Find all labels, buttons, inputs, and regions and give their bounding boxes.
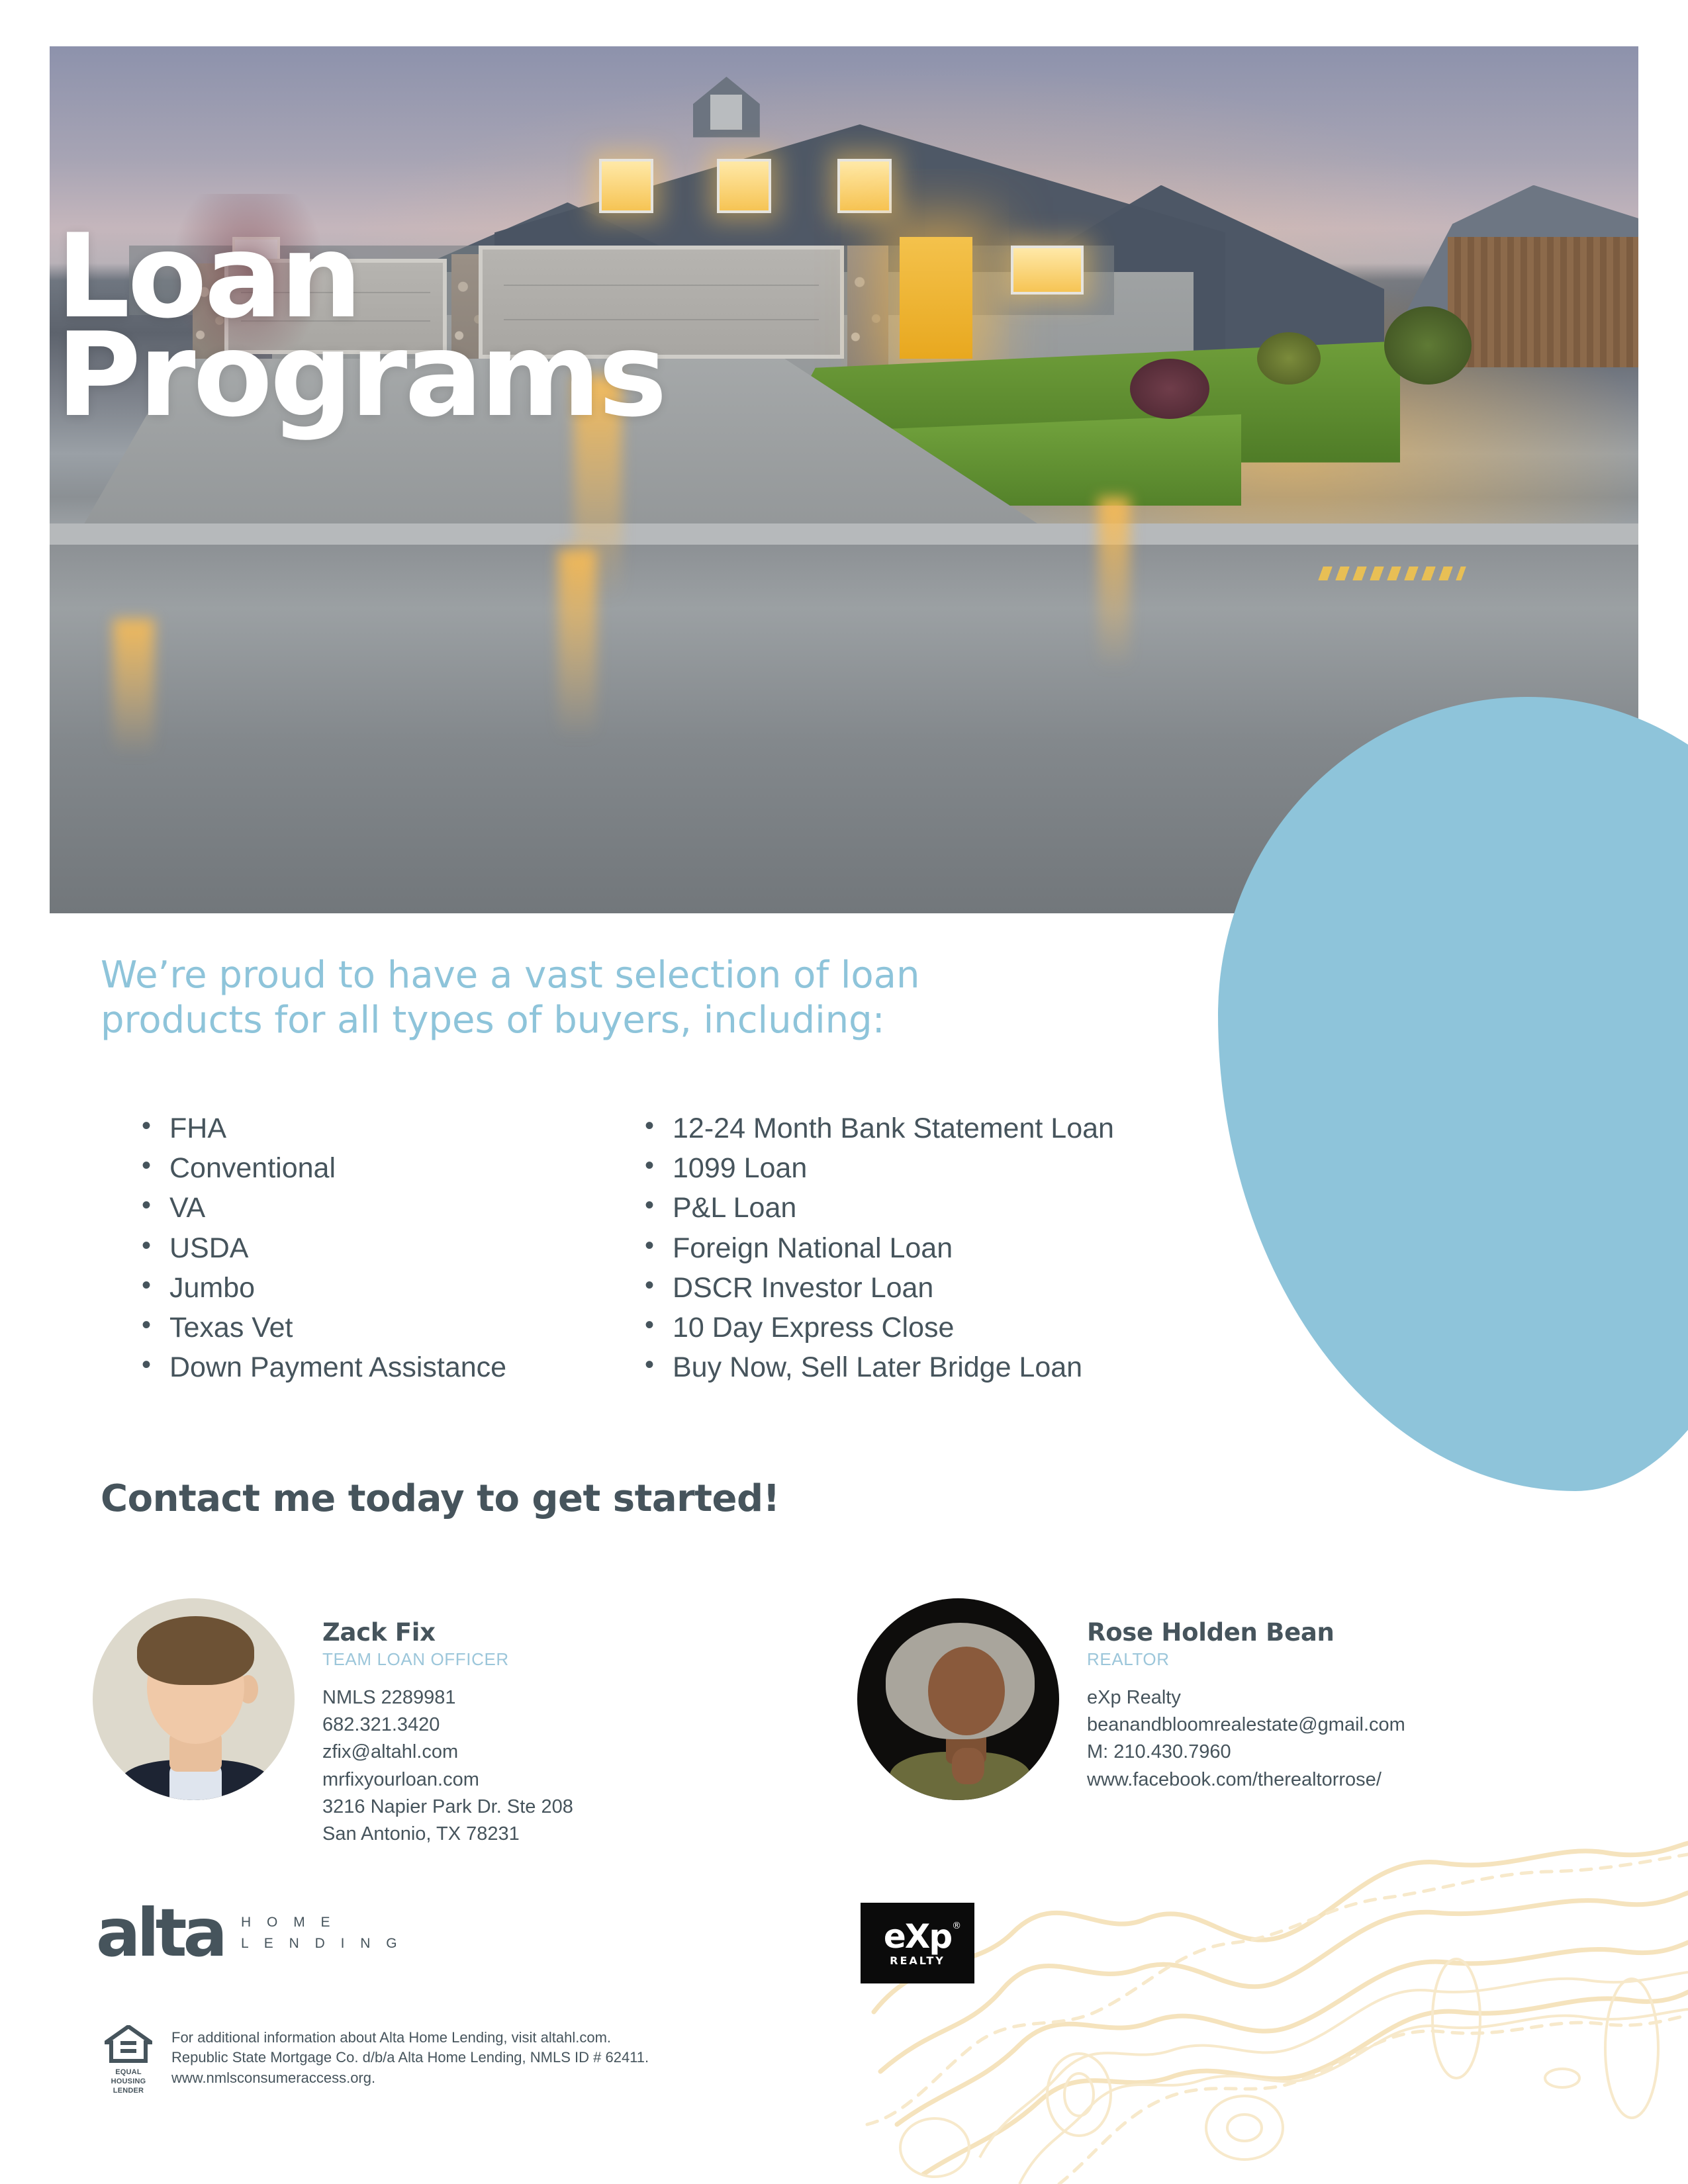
topographic-decoration [861, 1813, 1688, 2184]
shrub-1 [1130, 359, 1209, 420]
list-item: FHA [142, 1109, 604, 1148]
list-item: Buy Now, Sell Later Bridge Loan [645, 1347, 1107, 1387]
contact-details: NMLS 2289981 682.321.3420 zfix@altahl.co… [322, 1684, 573, 1848]
light-reflection-2 [558, 549, 596, 740]
avatar [93, 1598, 295, 1800]
house-icon [105, 2025, 152, 2064]
alta-home-lending-logo: alta H O M E L E N D I N G [96, 1906, 403, 1960]
list-item: P&L Loan [645, 1188, 1107, 1228]
programs-column-left: FHA Conventional VA USDA Jumbo Texas Vet… [101, 1109, 604, 1387]
list-item: DSCR Investor Loan [645, 1268, 1107, 1308]
list-item: Conventional [142, 1148, 604, 1188]
wood-fence [1448, 237, 1638, 367]
avatar [857, 1598, 1059, 1800]
contact-details: eXp Realty beanandbloomrealestate@gmail.… [1087, 1684, 1405, 1794]
list-item: Texas Vet [142, 1308, 604, 1347]
light-reflection-4 [113, 619, 154, 758]
list-item: Jumbo [142, 1268, 604, 1308]
contact-info: Zack Fix TEAM LOAN OFFICER NMLS 2289981 … [322, 1598, 573, 1848]
alta-wordmark: alta [96, 1906, 224, 1960]
programs-list-right: 12-24 Month Bank Statement Loan 1099 Loa… [604, 1109, 1107, 1387]
list-item: VA [142, 1188, 604, 1228]
shrub-3 [1384, 306, 1472, 385]
contact-card-loan-officer: Zack Fix TEAM LOAN OFFICER NMLS 2289981 … [93, 1598, 573, 1848]
footer: EQUAL HOUSING LENDER For additional info… [103, 2025, 649, 2095]
window-lit-4 [1011, 246, 1084, 294]
list-item: 1099 Loan [645, 1148, 1107, 1188]
list-item: USDA [142, 1228, 604, 1268]
list-item: Down Payment Assistance [142, 1347, 604, 1387]
shrub-2 [1257, 332, 1321, 385]
window-lit-2 [717, 159, 771, 212]
exp-realty-logo: eXp® REALTY [861, 1903, 974, 1983]
dormer-window [710, 95, 742, 129]
light-reflection-3 [1098, 497, 1130, 670]
programs-column-right: 12-24 Month Bank Statement Loan 1099 Loa… [604, 1109, 1107, 1387]
list-item: 12-24 Month Bank Statement Loan [645, 1109, 1107, 1148]
intro-text: We’re proud to have a vast selection of … [101, 953, 1133, 1044]
contact-role: REALTOR [1087, 1649, 1405, 1670]
window-lit-1 [599, 159, 653, 212]
list-item: 10 Day Express Close [645, 1308, 1107, 1347]
stone-column-3 [847, 246, 888, 367]
accent-blob-shape [1218, 697, 1688, 1491]
contact-name: Rose Holden Bean [1087, 1618, 1405, 1647]
curb-marking [1318, 567, 1466, 580]
equal-housing-label: EQUAL HOUSING LENDER [103, 2068, 154, 2095]
alta-tagline: H O M E L E N D I N G [241, 1912, 403, 1960]
contact-info: Rose Holden Bean REALTOR eXp Realty bean… [1087, 1598, 1405, 1794]
front-door [900, 237, 972, 358]
contact-name: Zack Fix [322, 1618, 573, 1647]
equal-housing-lender-logo: EQUAL HOUSING LENDER [103, 2025, 154, 2095]
window-lit-3 [837, 159, 892, 212]
contact-card-realtor: Rose Holden Bean REALTOR eXp Realty bean… [857, 1598, 1405, 1800]
list-item: Foreign National Loan [645, 1228, 1107, 1268]
exp-word-text: eXp [884, 1917, 951, 1956]
cta-heading: Contact me today to get started! [101, 1477, 780, 1520]
contact-role: TEAM LOAN OFFICER [322, 1649, 573, 1670]
exp-wordmark: eXp® [884, 1920, 951, 1953]
exp-realty-subtext: REALTY [890, 1954, 945, 1967]
registered-trademark-icon: ® [952, 1921, 960, 1931]
page-title: Loan Programs [56, 228, 665, 426]
curb [50, 523, 1638, 545]
loan-programs-lists: FHA Conventional VA USDA Jumbo Texas Vet… [101, 1109, 1239, 1387]
footer-disclaimer: For additional information about Alta Ho… [171, 2025, 649, 2088]
programs-list-left: FHA Conventional VA USDA Jumbo Texas Vet… [101, 1109, 604, 1387]
